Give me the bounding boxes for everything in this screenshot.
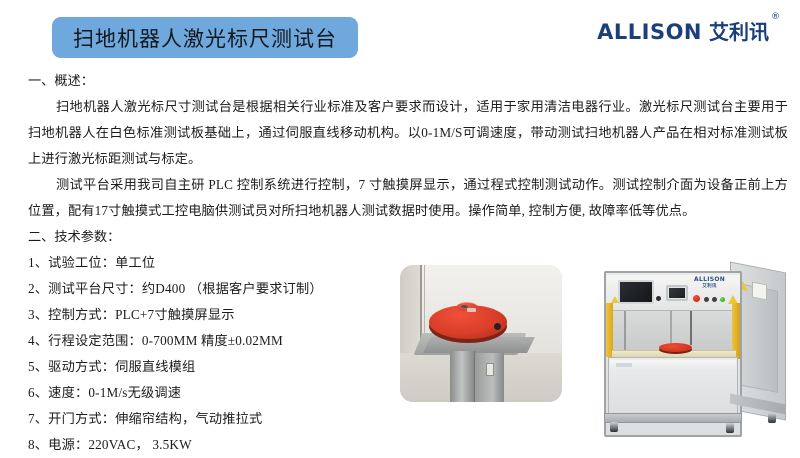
cabinet-side-panel [738, 283, 778, 393]
safety-light-curtain-left [606, 303, 613, 357]
page-title-banner: 扫地机器人激光标尺测试台 [52, 17, 358, 58]
platform-column [450, 351, 476, 402]
brand-name-cjk: 艾利讯 [709, 22, 769, 42]
cabinet-nameplate [616, 363, 632, 367]
machine-brand-logo: ALLISON 艾利讯 [694, 276, 725, 290]
machine-brand-latin: ALLISON [694, 276, 725, 283]
indicator-lamp-3[interactable] [720, 297, 725, 302]
overview-heading: 一、概述： [0, 68, 800, 94]
cabinet-panel-detail [486, 363, 494, 376]
test-station-photo: ALLISON 艾利讯 [592, 253, 792, 445]
industrial-pc-monitor[interactable] [618, 280, 654, 304]
warning-triangle-icon [611, 296, 619, 303]
specs-heading: 二、技术参数： [0, 224, 800, 250]
page-header: 扫地机器人激光标尺测试台 ALLISON 艾利讯 ® [0, 0, 800, 68]
indicator-lamp-1[interactable] [704, 297, 709, 302]
company-logo: ALLISON 艾利讯 ® [597, 22, 780, 43]
caster-wheel [610, 422, 618, 432]
caster-wheel [768, 413, 776, 423]
machine-brand-cjk: 艾利讯 [694, 283, 725, 290]
chamber-divider-left [624, 311, 626, 353]
overview-paragraph-1: 扫地机器人激光标尺寸测试台是根据相关行业标准及客户要求而设计，适用于家用清洁电器… [0, 94, 800, 172]
page-title: 扫地机器人激光标尺测试台 [73, 23, 337, 53]
cabinet-side-label [752, 282, 767, 301]
overview-paragraph-2: 测试平台采用我司自主研 PLC 控制系统进行控制，7 寸触摸屏显示，通过程式控制… [0, 172, 800, 224]
caster-wheel [726, 423, 734, 433]
panel-knob[interactable] [656, 296, 661, 301]
brand-name-latin: ALLISON [597, 22, 702, 43]
cabinet-base [604, 413, 742, 423]
robot-vacuum-photo [400, 265, 562, 402]
registered-trademark-icon: ® [771, 12, 780, 22]
robot-vacuum-in-chamber [659, 343, 692, 352]
robot-vacuum-side-port [494, 323, 501, 330]
robot-vacuum-label [467, 308, 476, 312]
indicator-lamp-2[interactable] [712, 297, 717, 302]
side-cabinet [474, 353, 504, 402]
emergency-stop-button[interactable] [693, 295, 700, 302]
chamber-sensor-pole [690, 311, 692, 345]
touch-panel-screen[interactable] [669, 288, 685, 298]
